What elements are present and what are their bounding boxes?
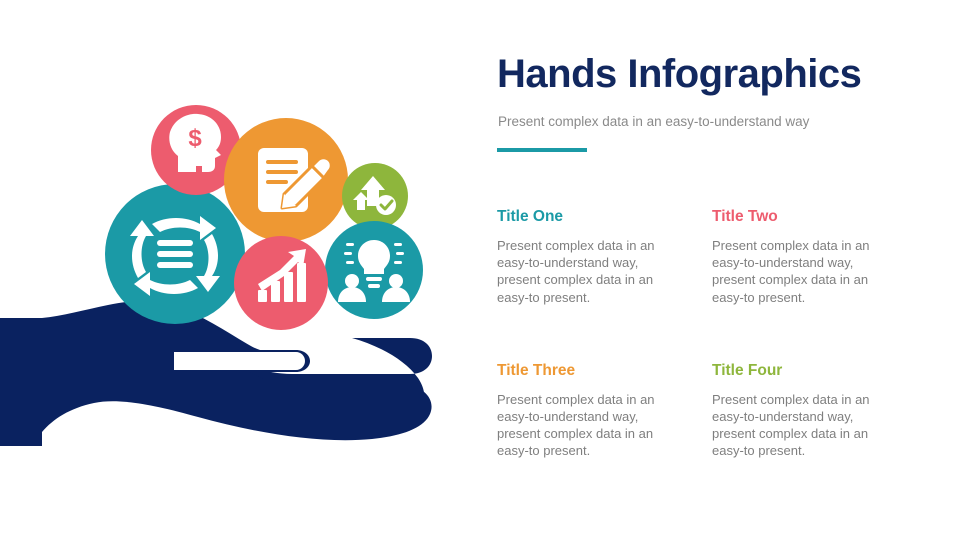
open-hand-shape xyxy=(0,301,432,446)
items-grid: Title One Present complex data in an eas… xyxy=(497,208,897,459)
bubble-bar-chart-circle[interactable] xyxy=(234,236,328,330)
bubble-bar-chart[interactable] xyxy=(234,236,328,330)
item-title-one-heading: Title One xyxy=(497,208,697,225)
content-column: Hands Infographics Present complex data … xyxy=(497,0,937,551)
item-title-one-body: Present complex data in an easy-to-under… xyxy=(497,237,660,306)
bubble-cycle-list[interactable] xyxy=(105,184,245,324)
hand-cuff xyxy=(0,318,42,446)
item-title-three-heading: Title Three xyxy=(497,362,697,379)
bubble-document-edit[interactable] xyxy=(224,118,348,242)
svg-text:$: $ xyxy=(188,125,202,152)
slide-canvas: $ xyxy=(0,0,980,551)
item-title-one: Title One Present complex data in an eas… xyxy=(497,208,697,306)
item-title-two-heading: Title Two xyxy=(712,208,912,225)
accent-rule xyxy=(497,148,587,152)
bubble-idea-team[interactable] xyxy=(325,221,423,319)
item-title-four-heading: Title Four xyxy=(712,362,912,379)
hand-thumb-notch xyxy=(174,352,305,370)
bubble-growth-check[interactable] xyxy=(342,163,408,229)
item-title-three: Title Three Present complex data in an e… xyxy=(497,362,697,460)
page-subtitle: Present complex data in an easy-to-under… xyxy=(498,113,918,131)
item-title-two: Title Two Present complex data in an eas… xyxy=(712,208,912,306)
page-title: Hands Infographics xyxy=(497,52,897,96)
hand-body xyxy=(42,301,432,440)
item-title-two-body: Present complex data in an easy-to-under… xyxy=(712,237,875,306)
item-title-four: Title Four Present complex data in an ea… xyxy=(712,362,912,460)
item-title-three-body: Present complex data in an easy-to-under… xyxy=(497,391,660,460)
hands-illustration: $ xyxy=(0,0,460,551)
item-title-four-body: Present complex data in an easy-to-under… xyxy=(712,391,875,460)
